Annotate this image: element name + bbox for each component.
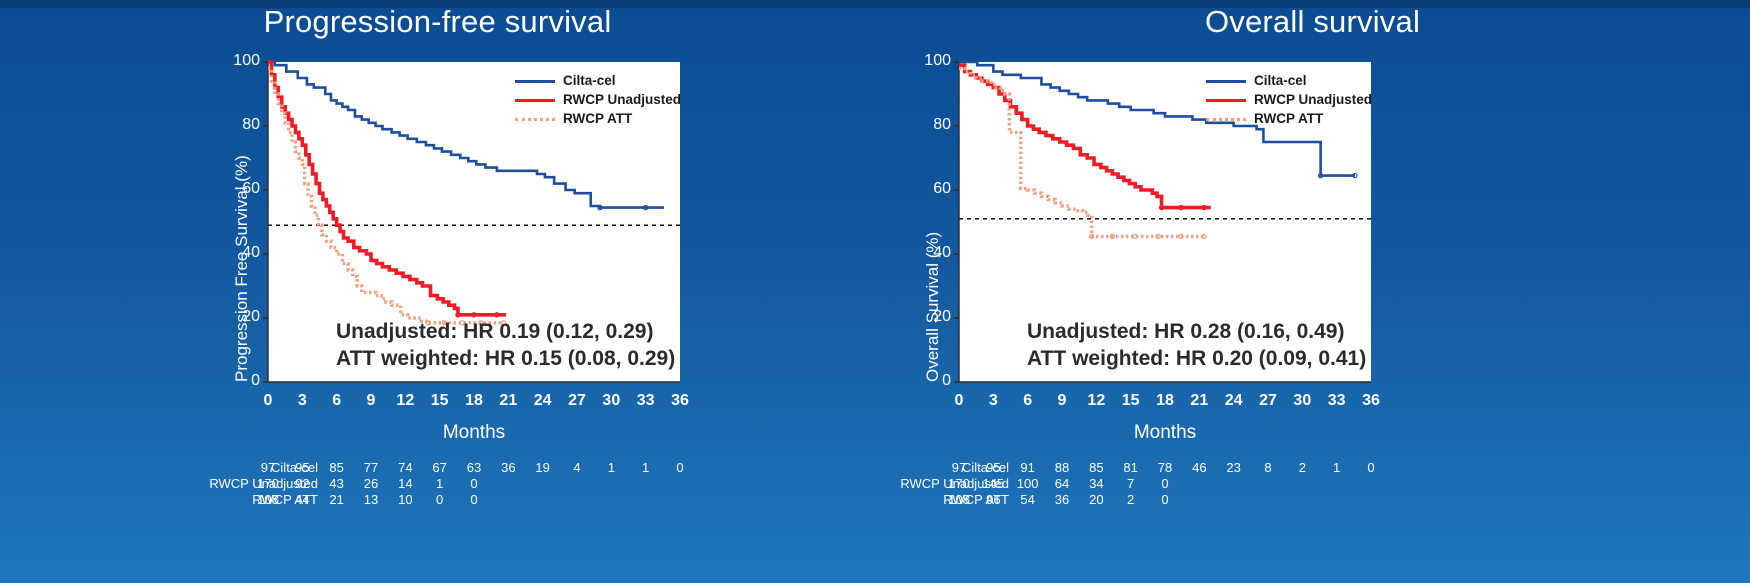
risk-cell: 13 [357, 492, 385, 507]
risk-cell: 7 [1117, 476, 1145, 491]
legend-swatch [1206, 118, 1246, 121]
panel-progression-free-survival: Progression-free survival Progression Fr… [0, 0, 875, 583]
x-tick-label: 6 [322, 392, 352, 410]
legend-swatch [515, 80, 555, 83]
risk-cell: 8 [1254, 460, 1282, 475]
x-tick-label: 0 [944, 392, 974, 410]
x-tick-label: 21 [493, 392, 523, 410]
legend-item-rwcp-unadjusted[interactable]: RWCP Unadjusted [515, 92, 681, 107]
y-tick-label: 100 [917, 52, 951, 70]
x-tick-label: 30 [596, 392, 626, 410]
legend-label: RWCP Unadjusted [563, 92, 681, 107]
risk-cell: 1 [597, 460, 625, 475]
risk-cell: 21 [323, 492, 351, 507]
risk-cell: 74 [391, 460, 419, 475]
x-tick-label: 24 [528, 392, 558, 410]
x-tick-label: 24 [1219, 392, 1249, 410]
legend-label: RWCP ATT [1254, 111, 1323, 126]
risk-cell: 0 [1151, 476, 1179, 491]
x-tick-label: 21 [1184, 392, 1214, 410]
y-tick-label: 0 [226, 372, 260, 390]
risk-cell: 19 [529, 460, 557, 475]
panel-overall-survival: Overall survival Overall Survival (%)020… [875, 0, 1750, 583]
x-tick-label: 12 [1081, 392, 1111, 410]
risk-cell: 4 [563, 460, 591, 475]
legend-label: Cilta-cel [563, 73, 616, 88]
risk-cell: 108 [254, 492, 282, 507]
risk-cell: 95 [979, 460, 1007, 475]
y-tick-label: 0 [917, 372, 951, 390]
risk-cell: 23 [1220, 460, 1248, 475]
x-tick-label: 15 [1116, 392, 1146, 410]
risk-cell: 108 [945, 492, 973, 507]
risk-cell: 88 [1048, 460, 1076, 475]
legend-swatch [515, 99, 555, 102]
y-tick-label: 40 [917, 244, 951, 262]
risk-cell: 10 [391, 492, 419, 507]
risk-cell: 1 [426, 476, 454, 491]
y-tick-label: 20 [917, 308, 951, 326]
y-tick-label: 80 [226, 116, 260, 134]
x-tick-label: 27 [562, 392, 592, 410]
x-tick-label: 30 [1287, 392, 1317, 410]
x-tick-label: 6 [1013, 392, 1043, 410]
x-tick-label: 27 [1253, 392, 1283, 410]
risk-cell: 1 [1323, 460, 1351, 475]
risk-cell: 0 [1357, 460, 1385, 475]
hr-annotation-2: ATT weighted: HR 0.20 (0.09, 0.41) [1027, 347, 1366, 371]
x-axis-label-os: Months [959, 422, 1371, 444]
y-tick-label: 20 [226, 308, 260, 326]
legend-item-rwcp-unadjusted[interactable]: RWCP Unadjusted [1206, 92, 1372, 107]
x-tick-label: 36 [665, 392, 695, 410]
risk-cell: 0 [426, 492, 454, 507]
y-tick-label: 100 [226, 52, 260, 70]
legend-item-rwcp-att[interactable]: RWCP ATT [515, 111, 632, 126]
x-axis-label-pfs: Months [268, 422, 680, 444]
risk-cell: 81 [1117, 460, 1145, 475]
risk-cell: 2 [1288, 460, 1316, 475]
x-tick-label: 18 [459, 392, 489, 410]
legend-swatch [1206, 99, 1246, 102]
risk-cell: 0 [1151, 492, 1179, 507]
x-tick-label: 15 [425, 392, 455, 410]
legend-label: RWCP ATT [563, 111, 632, 126]
risk-cell: 26 [357, 476, 385, 491]
x-tick-label: 12 [390, 392, 420, 410]
risk-cell: 170 [254, 476, 282, 491]
hr-annotation-2: ATT weighted: HR 0.15 (0.08, 0.29) [336, 347, 675, 371]
risk-cell: 78 [1151, 460, 1179, 475]
risk-cell: 85 [323, 460, 351, 475]
x-tick-label: 3 [287, 392, 317, 410]
x-tick-label: 36 [1356, 392, 1386, 410]
hr-annotation-1: Unadjusted: HR 0.28 (0.16, 0.49) [1027, 320, 1344, 344]
risk-cell: 0 [460, 492, 488, 507]
risk-cell: 96 [979, 492, 1007, 507]
risk-cell: 95 [288, 460, 316, 475]
risk-cell: 67 [426, 460, 454, 475]
legend-swatch [515, 118, 555, 121]
risk-cell: 92 [288, 476, 316, 491]
x-tick-label: 3 [978, 392, 1008, 410]
risk-cell: 97 [945, 460, 973, 475]
legend-item-rwcp-att[interactable]: RWCP ATT [1206, 111, 1323, 126]
risk-cell: 20 [1082, 492, 1110, 507]
legend-item-cilta-cel[interactable]: Cilta-cel [515, 73, 616, 88]
y-tick-label: 60 [226, 180, 260, 198]
hr-annotation-1: Unadjusted: HR 0.19 (0.12, 0.29) [336, 320, 653, 344]
y-tick-label: 60 [917, 180, 951, 198]
legend-label: Cilta-cel [1254, 73, 1307, 88]
legend-label: RWCP Unadjusted [1254, 92, 1372, 107]
risk-cell: 14 [391, 476, 419, 491]
x-tick-label: 9 [1047, 392, 1077, 410]
y-tick-label: 40 [226, 244, 260, 262]
legend-swatch [1206, 80, 1246, 83]
risk-cell: 36 [1048, 492, 1076, 507]
y-tick-label: 80 [917, 116, 951, 134]
risk-cell: 44 [288, 492, 316, 507]
x-tick-label: 18 [1150, 392, 1180, 410]
risk-cell: 36 [494, 460, 522, 475]
risk-cell: 34 [1082, 476, 1110, 491]
risk-cell: 64 [1048, 476, 1076, 491]
risk-cell: 85 [1082, 460, 1110, 475]
x-tick-label: 9 [356, 392, 386, 410]
risk-cell: 0 [460, 476, 488, 491]
risk-cell: 43 [323, 476, 351, 491]
legend-item-cilta-cel[interactable]: Cilta-cel [1206, 73, 1307, 88]
x-tick-label: 0 [253, 392, 283, 410]
x-tick-label: 33 [1322, 392, 1352, 410]
risk-cell: 1 [632, 460, 660, 475]
risk-cell: 2 [1117, 492, 1145, 507]
risk-cell: 170 [945, 476, 973, 491]
risk-cell: 100 [1014, 476, 1042, 491]
risk-cell: 63 [460, 460, 488, 475]
risk-cell: 97 [254, 460, 282, 475]
risk-cell: 46 [1185, 460, 1213, 475]
risk-cell: 91 [1014, 460, 1042, 475]
risk-cell: 54 [1014, 492, 1042, 507]
risk-cell: 0 [666, 460, 694, 475]
x-tick-label: 33 [631, 392, 661, 410]
risk-cell: 145 [979, 476, 1007, 491]
risk-cell: 77 [357, 460, 385, 475]
